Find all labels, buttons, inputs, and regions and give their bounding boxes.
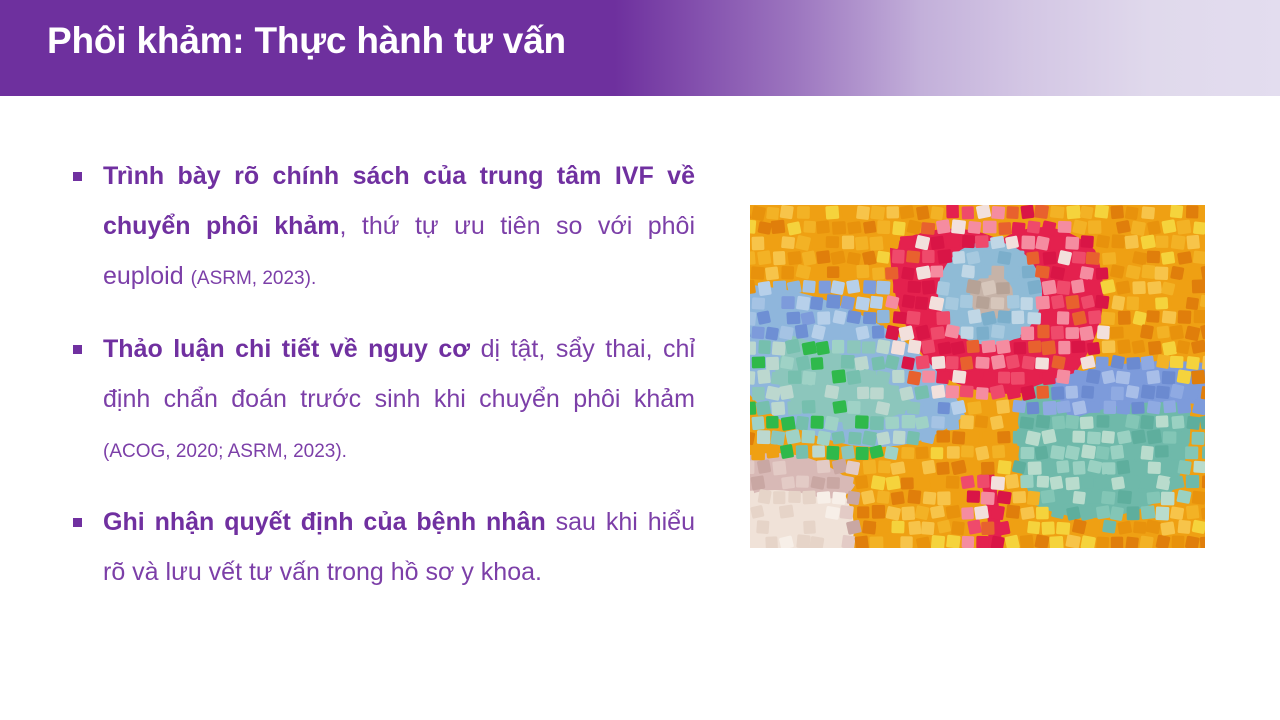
- mosaic-tile: [1141, 384, 1156, 399]
- mosaic-tile: [1035, 236, 1050, 251]
- mosaic-tile: [787, 221, 802, 236]
- mosaic-tile: [1127, 446, 1140, 460]
- mosaic-tile: [1171, 415, 1184, 429]
- mosaic-tile: [766, 357, 779, 371]
- mosaic-tile: [1022, 265, 1036, 278]
- mosaic-tile: [796, 534, 810, 548]
- mosaic-tile: [1142, 295, 1156, 308]
- mosaic-tile: [766, 296, 779, 309]
- mosaic-tile: [802, 280, 816, 293]
- mosaic-tile: [936, 219, 951, 234]
- mosaic-tile: [872, 267, 885, 280]
- mosaic-tile: [770, 430, 785, 445]
- mosaic-tile: [1156, 354, 1170, 369]
- mosaic-tile: [1034, 445, 1048, 460]
- square-bullet-icon: [73, 518, 82, 527]
- mosaic-tile: [809, 536, 824, 548]
- mosaic-tile: [816, 250, 831, 264]
- mosaic-tile: [981, 340, 996, 353]
- mosaic-tile: [991, 324, 1005, 338]
- mosaic-tile: [1178, 279, 1193, 293]
- mosaic-tile: [998, 222, 1011, 235]
- mosaic-tile: [758, 340, 771, 354]
- mosaic-tile: [811, 357, 824, 370]
- mosaic-tile: [786, 312, 800, 325]
- mosaic-tile: [781, 476, 795, 489]
- mosaic-tile: [830, 250, 846, 265]
- mosaic-tile: [827, 477, 840, 489]
- mosaic-tile: [845, 460, 860, 475]
- mosaic-tile: [1161, 219, 1176, 234]
- mosaic-tile: [975, 446, 990, 461]
- mosaic-tile: [884, 446, 899, 461]
- mosaic-tile: [877, 490, 890, 504]
- mosaic-tile: [1192, 491, 1205, 505]
- mosaic-tile: [1072, 251, 1086, 264]
- mosaic-tile: [752, 356, 766, 368]
- mosaic-tile: [921, 339, 936, 354]
- mosaic-tile: [751, 447, 765, 461]
- mosaic-tile: [961, 507, 974, 520]
- mosaic-tile: [826, 236, 839, 248]
- mosaic-tile: [1161, 492, 1175, 506]
- mosaic-tile: [908, 521, 921, 535]
- mosaic-tile: [846, 310, 861, 324]
- mosaic-tile: [951, 492, 965, 505]
- mosaic-tile: [1171, 235, 1186, 250]
- mosaic-tile: [1191, 432, 1204, 445]
- mosaic-tile: [751, 416, 764, 430]
- mosaic-tile: [766, 416, 779, 429]
- mosaic-tile: [831, 369, 846, 384]
- mosaic-tile: [977, 475, 990, 489]
- mosaic-tile: [756, 520, 769, 534]
- mosaic-tile: [907, 370, 922, 385]
- mosaic-tile: [1140, 355, 1154, 370]
- mosaic-tile: [802, 490, 816, 504]
- mosaic-tile: [765, 326, 779, 340]
- mosaic-tile: [1072, 219, 1087, 234]
- mosaic-tile: [1011, 222, 1025, 235]
- mosaic-tile: [892, 370, 904, 383]
- mosaic-tile: [802, 400, 816, 414]
- mosaic-tile: [1145, 519, 1161, 534]
- mosaic-tile: [931, 416, 945, 429]
- mosaic-tile: [786, 519, 801, 535]
- mosaic-tile: [1088, 310, 1102, 324]
- mosaic-tile: [1170, 205, 1184, 218]
- mosaic-tile: [840, 326, 854, 339]
- mosaic-tile: [766, 207, 779, 220]
- mosaic-tile: [1110, 326, 1124, 338]
- mosaic-tile: [1110, 355, 1125, 370]
- mosaic-tile: [997, 251, 1012, 265]
- mosaic-tile: [991, 266, 1004, 280]
- mosaic-tile: [990, 415, 1004, 430]
- mosaic-tile: [1056, 460, 1069, 473]
- mosaic-tile: [1110, 264, 1125, 279]
- mosaic-tile: [1147, 251, 1160, 264]
- mosaic-tile: [803, 461, 817, 473]
- mosaic-tile: [952, 431, 965, 445]
- mosaic-tile: [1110, 445, 1124, 460]
- mosaic-tile: [930, 266, 943, 278]
- mosaic-tile: [779, 325, 794, 340]
- mosaic-tile: [1125, 536, 1139, 548]
- mosaic-tile: [1095, 446, 1110, 460]
- mosaic-tile: [1087, 431, 1101, 444]
- mosaic-tile: [960, 385, 974, 397]
- mosaic-tile: [1110, 506, 1124, 521]
- mosaic-tile: [796, 475, 809, 487]
- mosaic-tile: [1020, 447, 1034, 459]
- mosaic-tile: [921, 521, 935, 535]
- mosaic-tile: [1027, 312, 1041, 324]
- mosaic-tile: [863, 280, 876, 294]
- mosaic-tile: [816, 371, 830, 385]
- mosaic-tile: [1079, 326, 1094, 342]
- mosaic-tile: [1072, 369, 1087, 385]
- mosaic-tile: [847, 221, 862, 234]
- mosaic-tile: [1177, 460, 1192, 475]
- mosaic-tile: [981, 492, 995, 506]
- mosaic-tile: [885, 267, 899, 280]
- mosaic-tile: [1095, 295, 1110, 309]
- mosaic-tile: [854, 535, 868, 548]
- mosaic-tile: [1088, 220, 1102, 234]
- mosaic-tile: [1086, 369, 1101, 385]
- mosaic-tile: [992, 445, 1005, 459]
- mosaic-tile: [1007, 295, 1020, 309]
- mosaic-tile: [862, 430, 877, 446]
- mosaic-tile: [967, 490, 981, 503]
- mosaic-tile: [1156, 386, 1170, 400]
- mosaic-tile: [1019, 416, 1034, 429]
- mosaic-tile: [1085, 252, 1099, 265]
- mosaic-tile: [922, 310, 937, 325]
- mosaic-tile: [1021, 235, 1035, 249]
- mosaic-tile: [1043, 401, 1057, 415]
- mosaic-tile: [1177, 251, 1192, 265]
- mosaic-tile: [915, 446, 929, 459]
- mosaic-tile: [1111, 295, 1125, 310]
- mosaic-tile: [915, 416, 930, 430]
- mosaic-tile: [863, 460, 877, 475]
- mosaic-tile: [1035, 265, 1050, 279]
- mosaic-tile: [781, 296, 794, 309]
- mosaic-tile: [1050, 266, 1065, 281]
- mosaic-tile: [861, 369, 877, 385]
- mosaic-tile: [981, 280, 997, 296]
- mosaic-tile: [990, 236, 1005, 250]
- mosaic-tile: [1025, 430, 1041, 446]
- mosaic-tile: [1155, 297, 1168, 310]
- mosaic-tile: [945, 297, 959, 311]
- mosaic-tile: [855, 325, 869, 340]
- mosaic-tile: [1072, 491, 1085, 505]
- mosaic-tile: [901, 477, 914, 489]
- mosaic-tile: [1131, 402, 1145, 414]
- slide-header-bar: Phôi khảm: Thực hành tư vấn: [0, 0, 1280, 96]
- mosaic-tile: [816, 520, 830, 534]
- mosaic-tile: [946, 535, 961, 548]
- mosaic-tile: [1148, 461, 1161, 474]
- mosaic-tile: [870, 296, 883, 309]
- mosaic-tile: [875, 401, 890, 416]
- mosaic-tile: [1097, 325, 1110, 339]
- mosaic-tile: [914, 385, 930, 400]
- mosaic-tile: [951, 219, 966, 234]
- mosaic-tile: [946, 266, 961, 280]
- mosaic-tile: [1124, 235, 1139, 249]
- mosaic-tile: [1101, 430, 1115, 443]
- mosaic-tile: [1141, 206, 1155, 219]
- mosaic-tile: [1056, 430, 1071, 444]
- mosaic-tile: [1005, 354, 1020, 369]
- mosaic-tile: [871, 356, 885, 371]
- mosaic-tile: [803, 520, 816, 534]
- mosaic-tile: [981, 462, 995, 475]
- mosaic-tile: [1127, 506, 1140, 520]
- mosaic-tile: [878, 460, 891, 473]
- mosaic-tile: [750, 475, 765, 490]
- mosaic-tile: [826, 325, 841, 338]
- mosaic-tile: [961, 445, 974, 457]
- mosaic-tile: [1141, 505, 1156, 519]
- mosaic-tile: [901, 356, 915, 370]
- mosaic-tile: [1125, 385, 1139, 399]
- mosaic-tile: [825, 205, 839, 219]
- mosaic-tile: [840, 475, 855, 490]
- mosaic-tile: [1028, 340, 1042, 353]
- mosaic-tile: [991, 354, 1006, 370]
- mosaic-tile: [750, 371, 755, 385]
- mosaic-tile: [950, 341, 965, 356]
- mosaic-tile: [1170, 446, 1186, 461]
- mosaic-tile: [773, 491, 785, 504]
- mosaic-tile: [827, 266, 839, 278]
- mosaic-tile: [1012, 250, 1025, 263]
- mosaic-tile: [1185, 384, 1200, 399]
- mosaic-tile: [1094, 205, 1109, 219]
- mosaic-tile: [1034, 205, 1049, 219]
- mosaic-tile: [966, 279, 982, 295]
- mosaic-tile: [962, 206, 975, 219]
- mosaic-tile: [1116, 460, 1130, 475]
- mosaic-tile: [1117, 430, 1132, 444]
- mosaic-tile: [875, 370, 891, 385]
- mosaic-tile: [1071, 340, 1085, 353]
- mosaic-tile: [1026, 369, 1041, 384]
- mosaic-tile: [1111, 234, 1125, 248]
- mosaic-tile: [906, 460, 920, 474]
- mosaic-tile: [801, 430, 815, 444]
- mosaic-tile: [1021, 326, 1034, 340]
- mosaic-tile: [962, 235, 975, 248]
- mosaic-tile: [1186, 205, 1199, 218]
- mosaic-tile: [1096, 537, 1109, 548]
- mosaic-tile: [773, 522, 787, 534]
- mosaic-tile: [1146, 310, 1160, 323]
- mosaic-tile: [1170, 295, 1184, 309]
- mosaic-tile: [795, 324, 809, 339]
- mosaic-tile: [1056, 400, 1071, 414]
- mosaic-tile: [981, 521, 994, 535]
- mosaic-tile: [899, 205, 914, 219]
- mosaic-tile: [841, 535, 855, 548]
- mosaic-tile: [1041, 521, 1055, 535]
- mosaic-tile: [842, 235, 854, 249]
- mosaic-tile: [997, 310, 1011, 324]
- mosaic-tile: [922, 460, 936, 475]
- mosaic-tile: [961, 264, 976, 278]
- bullet-list: Trình bày rõ chính sách của trung tâm IV…: [70, 151, 695, 600]
- mosaic-tile: [1140, 234, 1156, 249]
- mosaic-tile: [991, 535, 1005, 548]
- mosaic-tile: [1110, 205, 1124, 219]
- mosaic-tile: [862, 520, 877, 534]
- mosaic-tile: [1071, 279, 1085, 294]
- mosaic-tile: [751, 266, 765, 280]
- mosaic-tile: [1117, 521, 1132, 535]
- mosaic-tile: [1026, 251, 1040, 265]
- mosaic-tile: [796, 384, 810, 399]
- mosaic-tile: [1193, 461, 1205, 473]
- mosaic-tile: [1011, 372, 1025, 385]
- mosaic-tile: [915, 296, 929, 310]
- mosaic-tile: [922, 280, 936, 295]
- mosaic-tile: [795, 416, 809, 431]
- mosaic-tile: [998, 372, 1010, 384]
- mosaic-tile: [1116, 220, 1131, 234]
- mosaic-tile: [811, 416, 824, 429]
- mosaic-tile: [930, 476, 944, 490]
- mosaic-tile: [1006, 206, 1019, 219]
- mosaic-tile: [997, 491, 1012, 505]
- mosaic-tile: [885, 295, 900, 309]
- mosaic-tile: [1065, 477, 1080, 491]
- mosaic-tile: [1020, 385, 1036, 401]
- mosaic-tile: [1086, 522, 1099, 535]
- mosaic-tile: [772, 460, 787, 475]
- mosaic-tile: [907, 339, 921, 354]
- mosaic-tile: [1155, 205, 1170, 219]
- mosaic-tile: [751, 536, 765, 548]
- mosaic-tile: [1014, 342, 1027, 354]
- mosaic-tile: [765, 234, 781, 250]
- mosaic-tile: [1200, 536, 1205, 548]
- mosaic-tile: [1005, 235, 1019, 249]
- mosaic-tile: [1186, 356, 1200, 370]
- mosaic-tile: [967, 519, 982, 535]
- mosaic-tile: [1125, 326, 1138, 341]
- mosaic-tile: [797, 206, 810, 219]
- mosaic-tile: [1081, 385, 1094, 398]
- mosaic-tile: [1176, 219, 1191, 234]
- mosaic-tile: [891, 340, 906, 356]
- mosaic-tile: [1111, 537, 1123, 548]
- mosaic-tile: [1080, 235, 1094, 248]
- mosaic-tile: [997, 431, 1011, 444]
- mosaic-tile: [1058, 341, 1070, 355]
- mosaic-tile: [1066, 506, 1081, 521]
- mosaic-tile: [1072, 431, 1085, 443]
- mosaic-tile: [1051, 355, 1066, 370]
- mosaic-tile: [788, 491, 801, 503]
- mosaic-tile: [892, 249, 905, 263]
- mosaic-tile: [1202, 446, 1205, 459]
- mosaic-tile: [1162, 341, 1177, 356]
- mosaic-tile: [892, 401, 905, 414]
- mosaic-tile: [891, 491, 905, 505]
- list-item: Trình bày rõ chính sách của trung tâm IV…: [70, 151, 695, 304]
- mosaic-tile: [921, 222, 936, 235]
- mosaic-tile: [1163, 431, 1177, 444]
- mosaic-tile: [1035, 296, 1050, 310]
- mosaic-tile: [1115, 371, 1130, 385]
- mosaic-tile: [1050, 445, 1065, 460]
- mosaic-tile: [1012, 281, 1026, 296]
- mosaic-tile: [982, 430, 996, 444]
- mosaic-tile: [1202, 475, 1205, 488]
- mosaic-tile: [1178, 310, 1192, 324]
- mosaic-tile: [952, 251, 965, 264]
- mosaic-tile: [832, 221, 846, 235]
- mosaic-tile: [1141, 264, 1155, 279]
- mosaic-tile: [1066, 264, 1080, 279]
- mosaic-tile: [786, 461, 800, 475]
- mosaic-tile: [1043, 312, 1056, 325]
- mosaic-tile: [974, 505, 989, 520]
- mosaic-tile: [930, 326, 945, 340]
- mosaic-tile: [856, 205, 870, 220]
- mosaic-tile: [885, 234, 900, 249]
- mosaic-tile: [779, 504, 794, 518]
- mosaic-tile: [1101, 370, 1115, 385]
- mosaic-tile: [967, 309, 981, 324]
- mosaic-tile: [1052, 416, 1066, 430]
- square-bullet-icon: [73, 172, 82, 181]
- mosaic-tile: [752, 387, 765, 401]
- mosaic-tile: [869, 536, 883, 548]
- mosaic-tile: [902, 294, 916, 308]
- mosaic-tile: [1057, 311, 1070, 324]
- mosaic-tile: [946, 476, 960, 489]
- mosaic-tile: [812, 445, 825, 457]
- mosaic-tile: [788, 371, 802, 384]
- mosaic-tile: [922, 250, 935, 263]
- mosaic-tile: [936, 311, 950, 325]
- mosaic-tile: [1012, 491, 1026, 504]
- mosaic-tile: [907, 281, 921, 293]
- mosaic-tile: [885, 416, 899, 429]
- mosaic-tile: [937, 249, 952, 264]
- mosaic-tile: [1185, 446, 1198, 459]
- mosaic-tile: [1095, 385, 1108, 399]
- mosaic-tile: [891, 521, 904, 534]
- mosaic-tile: [870, 387, 884, 399]
- mosaic-tile: [810, 207, 824, 220]
- mosaic-tile: [855, 415, 869, 429]
- mosaic-tile: [824, 416, 839, 432]
- mosaic-tile: [831, 431, 845, 445]
- mosaic-tile: [1157, 326, 1170, 339]
- mosaic-tile: [1073, 461, 1086, 475]
- mosaic-tile: [1170, 356, 1184, 369]
- mosaic-tile: [1043, 460, 1056, 474]
- mosaic-tile: [1041, 429, 1057, 445]
- mosaic-tile: [1148, 341, 1162, 356]
